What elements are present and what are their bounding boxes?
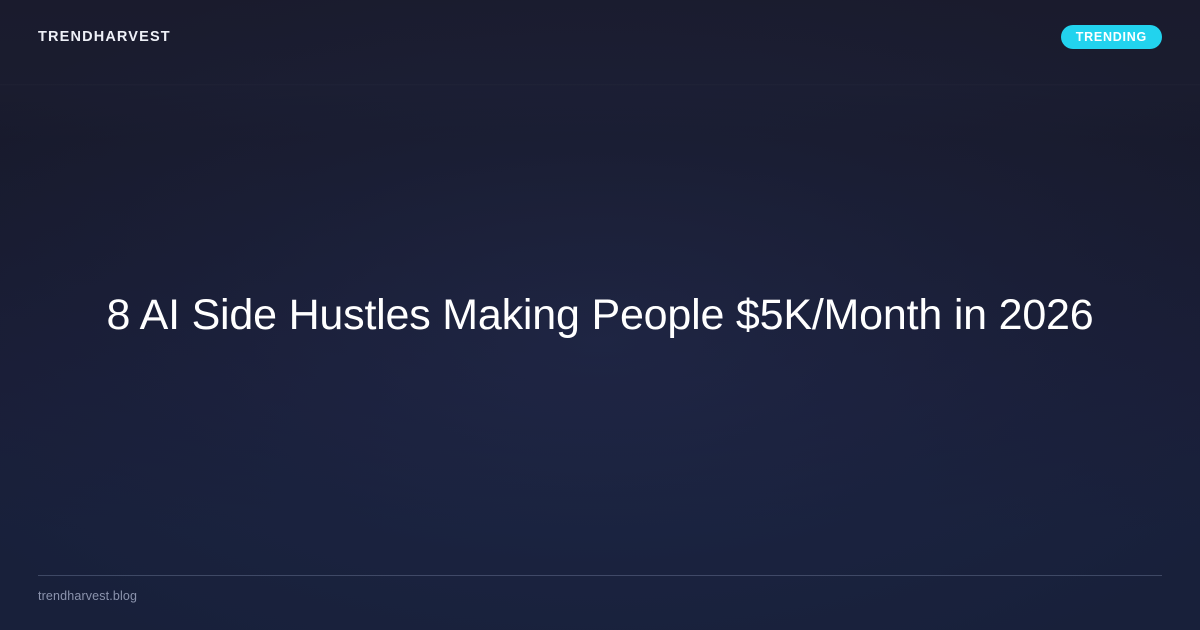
card-header: TRENDHARVEST TRENDING	[38, 24, 1162, 50]
trending-badge[interactable]: TRENDING	[1061, 25, 1162, 49]
card-footer: trendharvest.blog	[38, 575, 1162, 603]
footer-domain-text[interactable]: trendharvest.blog	[38, 590, 1162, 603]
footer-divider	[38, 575, 1162, 576]
title-container: 8 AI Side Hustles Making People $5K/Mont…	[60, 0, 1140, 630]
header-zone-band	[0, 84, 1200, 86]
brand-logo-text[interactable]: TRENDHARVEST	[38, 30, 171, 45]
og-image-card: TRENDHARVEST TRENDING 8 AI Side Hustles …	[0, 0, 1200, 630]
page-title: 8 AI Side Hustles Making People $5K/Mont…	[107, 289, 1094, 341]
